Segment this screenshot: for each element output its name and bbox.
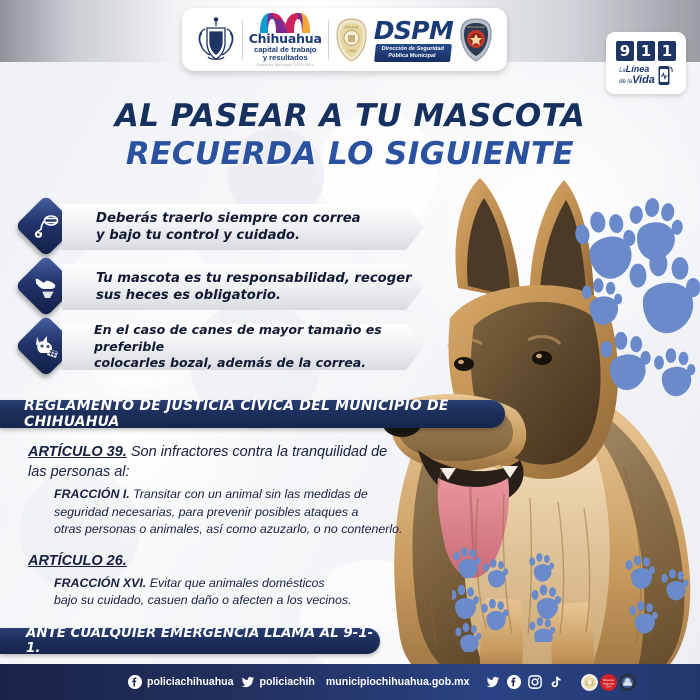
website-url: municipiochihuahua.gob.mx: [326, 676, 470, 688]
regulation-banner-text: REGLAMENTO DE JUSTICIA CÍVICA DEL MUNICI…: [0, 398, 505, 430]
911-digits: 9 1 1: [616, 41, 676, 61]
legal-gap: [28, 539, 488, 551]
emergency-banner: ANTE CUALQUIER EMERGENCIA LLAMA AL 9-1-1…: [0, 628, 380, 654]
paw-print-cluster-bottom-right: [624, 556, 700, 640]
article-26: ARTÍCULO 26.: [28, 551, 488, 571]
rule-1-line-2: y bajo tu control y cuidado.: [96, 227, 361, 244]
poster-title: AL PASEAR A TU MASCOTA RECUERDA LO SIGUI…: [0, 98, 700, 172]
logo-divider: [328, 20, 329, 60]
fraction-1-line-2: seguridad necesarias, para prevenir posi…: [54, 505, 358, 519]
rule-2-text: Tu mascota es tu responsabilidad, recoge…: [62, 270, 412, 305]
dspm-ribbon-line-1: Dirección de Seguridad: [381, 46, 444, 53]
regulation-banner: REGLAMENTO DE JUSTICIA CÍVICA DEL MUNICI…: [0, 400, 505, 428]
svg-text:POLICIA: POLICIA: [345, 25, 359, 29]
chihuahua-arch-icon: [254, 11, 316, 33]
footer-social-icons: [486, 675, 563, 689]
fraction-1-label: FRACCIÓN I.: [54, 487, 130, 501]
rule-2-line-1: Tu mascota es tu responsabilidad, recoge…: [96, 270, 412, 287]
article-39-text-2: las personas al:: [28, 464, 130, 480]
svg-text:SEGURIDAD: SEGURIDAD: [467, 25, 486, 29]
seal-gold-icon[interactable]: [581, 674, 598, 691]
article-39-fraction-1: FRACCIÓN I. Transitar con un animal sin …: [54, 486, 488, 539]
article-39-text-1: Son infractores contra la tranquilidad d…: [127, 444, 387, 460]
rule-2-line-2: sus heces es obligatorio.: [96, 287, 412, 304]
twitter-icon: [241, 675, 255, 689]
rule-3-text: En el caso de canes de mayor tamaño es p…: [62, 322, 424, 372]
rule-1-banner: Deberás traerlo siempre con correa y baj…: [62, 204, 424, 250]
fraction-1-line-3: otras personas o animales, así como azuz…: [54, 522, 403, 536]
infographic-poster: Chihuahua capital de trabajo y resultado…: [0, 0, 700, 700]
twitter-handle: policiachih: [260, 676, 315, 688]
dspm-ribbon-line-2: Pública Municipal: [381, 53, 444, 60]
police-gold-badge-icon: POLICIA CHIH: [335, 18, 368, 62]
tiktok-icon[interactable]: [549, 675, 563, 689]
crest-chihuahua-icon: [196, 17, 236, 63]
rule-3-banner: En el caso de canes de mayor tamaño es p…: [62, 324, 424, 370]
rule-2-banner: Tu mascota es tu responsabilidad, recoge…: [62, 264, 424, 310]
article-26-label: ARTÍCULO 26.: [28, 553, 127, 569]
tagline-line-2: y resultados: [254, 54, 316, 63]
linea-la: La: [619, 68, 626, 74]
rule-1-line-1: Deberás traerlo siempre con correa: [96, 210, 361, 227]
paw-print-cluster-top: [566, 196, 700, 346]
chihuahua-footnote: Gobierno Municipal 2021-2024: [256, 64, 314, 68]
facebook-icon: [128, 675, 142, 689]
footer-twitter[interactable]: policiachih: [241, 675, 315, 689]
svg-text:CHIH: CHIH: [605, 685, 611, 688]
digit-9: 9: [616, 41, 634, 61]
paw-print-cluster-mid: [596, 330, 700, 420]
linea-text: LaLínea de laVida: [619, 65, 655, 85]
chihuahua-wordmark: Chihuahua: [249, 33, 322, 46]
title-line-1: AL PASEAR A TU MASCOTA: [0, 98, 700, 134]
article-39-label: ARTÍCULO 39.: [28, 444, 127, 460]
digit-1-a: 1: [637, 41, 655, 61]
legal-text-block: ARTÍCULO 39. Son infractores contra la t…: [28, 442, 488, 610]
leash-collar-icon: [32, 212, 60, 240]
instagram-icon[interactable]: [528, 675, 542, 689]
digit-1-b: 1: [658, 41, 676, 61]
police-red-shield-icon: SEGURIDAD: [459, 18, 493, 62]
footer-bar: policiachihuahua policiachih municipioch…: [0, 664, 700, 700]
dspm-acronym: DSPM: [374, 18, 454, 43]
smartphone-icon: [657, 64, 673, 86]
rules-list: Deberás traerlo siempre con correa y baj…: [24, 200, 424, 380]
footer-facebook[interactable]: policiachihuahua: [128, 675, 234, 689]
rule-item-2: Tu mascota es tu responsabilidad, recoge…: [24, 260, 424, 314]
title-line-2: RECUERDA LO SIGUIENTE: [0, 136, 700, 172]
rule-3-line-2: colocarles bozal, además de la correa.: [94, 355, 424, 372]
linea-vida: Vida: [632, 74, 655, 86]
hand-scoop-bag-icon: [32, 272, 60, 300]
footer-logo-badges: Mujeres Seguras CHIH: [581, 674, 636, 691]
article-26-fraction-16: FRACCIÓN XVI. Evitar que animales domést…: [54, 575, 488, 610]
seal-red-icon[interactable]: Mujeres Seguras CHIH: [600, 674, 617, 691]
logo-divider: [242, 20, 243, 60]
header-bar: Chihuahua capital de trabajo y resultado…: [0, 0, 700, 62]
chihuahua-logo: Chihuahua capital de trabajo y resultado…: [249, 11, 322, 68]
emergency-banner-text: ANTE CUALQUIER EMERGENCIA LLAMA AL 9-1-1…: [0, 626, 380, 656]
linea-dela: de la: [619, 79, 632, 85]
rule-item-3: En el caso de canes de mayor tamaño es p…: [24, 320, 424, 374]
linea-de-la-vida: LaLínea de laVida: [619, 64, 673, 86]
rule-1-text: Deberás traerlo siempre con correa y baj…: [62, 210, 361, 245]
fraction-16-line-2: bajo su cuidado, casuen daño o afecten a…: [54, 593, 352, 607]
rule-3-line-1: En el caso de canes de mayor tamaño es p…: [94, 322, 424, 355]
linea-linea: Línea: [626, 64, 650, 74]
paw-print-cluster-bottom-mid: [528, 552, 574, 642]
dog-muzzle-icon: [32, 332, 60, 360]
logo-card: Chihuahua capital de trabajo y resultado…: [182, 8, 507, 71]
svg-text:CHIH: CHIH: [347, 49, 356, 53]
linea-line-2: de laVida: [619, 75, 655, 86]
fraction-16-line-1: Evitar que animales domésticos: [146, 576, 324, 590]
fraction-1-line-1: Transitar con un animal sin las medidas …: [130, 487, 368, 501]
twitter-icon[interactable]: [486, 675, 500, 689]
chihuahua-tagline: capital de trabajo y resultados: [254, 46, 316, 63]
article-39: ARTÍCULO 39. Son infractores contra la t…: [28, 442, 488, 482]
dspm-logo: DSPM Dirección de Seguridad Pública Muni…: [374, 18, 454, 62]
badge-911[interactable]: 9 1 1 LaLínea de laVida: [606, 32, 686, 94]
footer-website[interactable]: municipiochihuahua.gob.mx: [326, 676, 470, 688]
seal-navy-icon[interactable]: [619, 674, 636, 691]
facebook-handle: policiachihuahua: [147, 676, 234, 688]
fraction-16-label: FRACCIÓN XVI.: [54, 576, 146, 590]
dspm-ribbon: Dirección de Seguridad Pública Municipal: [374, 44, 452, 62]
facebook-icon[interactable]: [507, 675, 521, 689]
rule-item-1: Deberás traerlo siempre con correa y baj…: [24, 200, 424, 254]
